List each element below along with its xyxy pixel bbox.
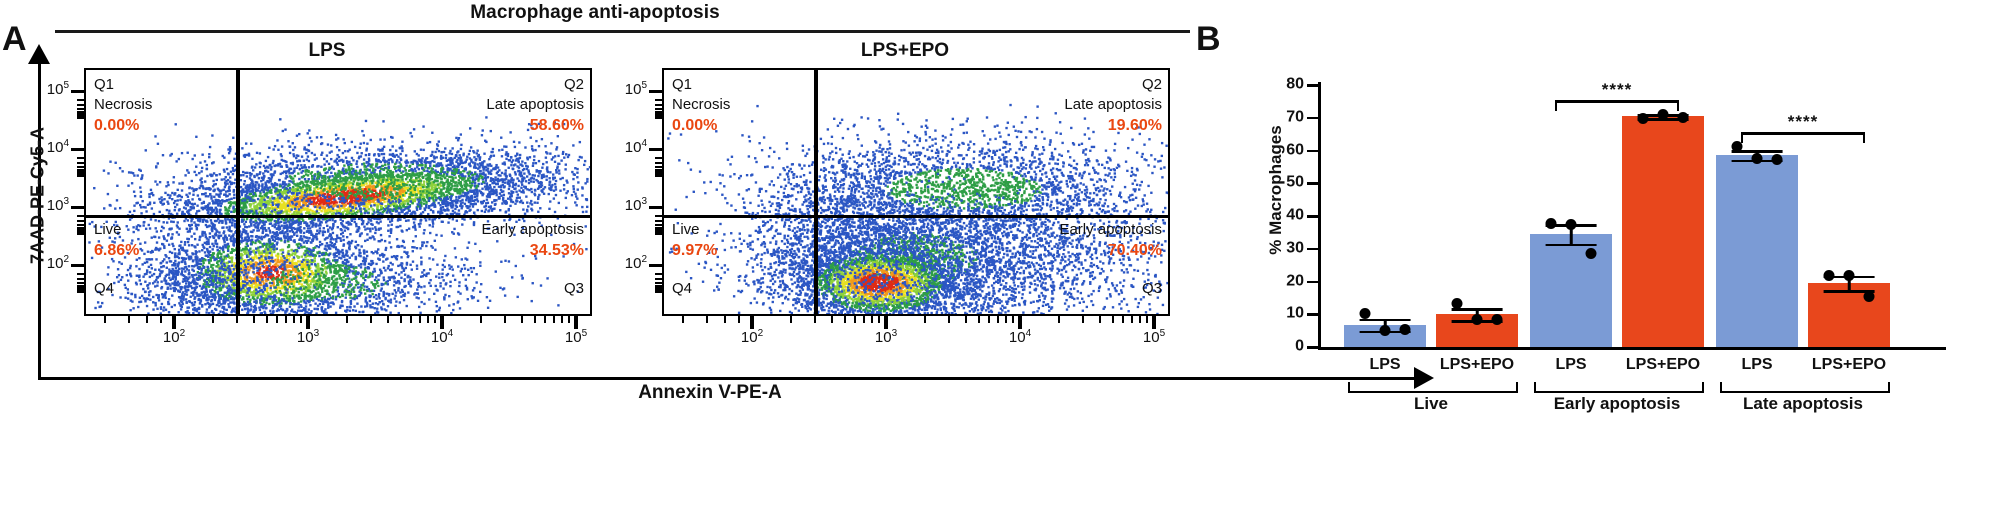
flow-y-minor-tick [77, 291, 84, 293]
flow-x-minor-tick [1112, 316, 1114, 323]
flow-x-minor-tick [568, 316, 570, 323]
flow-y-minor-tick [77, 166, 84, 168]
flow-x-minor-tick [534, 316, 536, 323]
flow-x-ticks: 102103104105 [662, 316, 1170, 332]
quadrant-q1-id: Q1 [672, 75, 730, 95]
flow-x-minor-tick [346, 316, 348, 323]
quadrant-q1-label: Q1 Necrosis 0.00% [672, 75, 730, 136]
flow-x-tick-label: 103 [875, 328, 897, 346]
quadrant-q4-name: Live [94, 220, 139, 240]
flow-plot-box: Q1 Necrosis 0.00% Q2 Late apoptosis 19.6… [662, 68, 1170, 316]
flow-x-minor-tick [544, 316, 546, 323]
flow-y-minor-tick [77, 233, 84, 235]
bar-chart-y-axis [1318, 82, 1321, 350]
flow-y-minor-tick [77, 224, 84, 226]
flow-x-minor-tick [1139, 316, 1141, 323]
flow-x-minor-tick [128, 316, 130, 323]
panel-a-x-axis-line [38, 377, 1418, 380]
flow-x-minor-tick [1122, 316, 1124, 323]
data-point [1824, 270, 1835, 281]
significance-bracket-left-tick [1741, 132, 1744, 143]
flow-x-minor-tick [738, 316, 740, 323]
flow-y-minor-tick [655, 108, 662, 110]
flow-x-minor-tick [427, 316, 429, 323]
flow-y-minor-tick [77, 104, 84, 106]
panel-a-x-axis-label: Annexin V-PE-A [300, 382, 1120, 404]
flow-x-minor-tick [706, 316, 708, 323]
flow-plot-box: Q1 Necrosis 0.00% Q2 Late apoptosis 58.6… [84, 68, 592, 316]
quadrant-q2-value: 58.60% [486, 115, 584, 136]
significance-bracket-line [1555, 100, 1680, 103]
flow-y-minor-tick [655, 282, 662, 284]
flow-x-minor-tick [276, 316, 278, 323]
bar-chart-y-tick [1307, 281, 1318, 284]
data-point [1492, 314, 1503, 325]
flow-x-minor-tick [146, 316, 148, 323]
flow-x-minor-tick [561, 316, 563, 323]
flow-x-ticks: 102103104105 [84, 316, 592, 332]
quadrant-q1-id: Q1 [94, 75, 152, 95]
significance-bracket-right-tick [1677, 100, 1680, 111]
flow-vertical-gate [814, 70, 818, 314]
flow-y-major-tick [649, 148, 662, 151]
flow-x-minor-tick [410, 316, 412, 323]
significance-bracket-line [1741, 132, 1866, 135]
flow-y-minor-tick [655, 220, 662, 222]
flow-y-minor-tick [77, 162, 84, 164]
flow-y-major-tick [71, 206, 84, 209]
flow-y-minor-tick [77, 215, 84, 217]
bar-chart-plot-area: 01020304050607080LPSLPS+EPOLPSLPS+EPOLPS… [1318, 82, 1938, 350]
quadrant-q2-value: 19.60% [1064, 115, 1162, 136]
flow-x-tick-label: 104 [1009, 328, 1031, 346]
flow-x-minor-tick [878, 316, 880, 323]
flow-y-minor-tick [77, 175, 84, 177]
bar-chart-y-axis-label: % Macrophages [1266, 90, 1286, 290]
flow-plot-lps: LPS 105104103102 Q1 Necrosis 0.00% Q2 La… [62, 68, 592, 358]
flow-x-tick-label: 103 [297, 328, 319, 346]
quadrant-q4-name: Live [672, 220, 717, 240]
bar-chart-y-tick [1307, 182, 1318, 185]
error-bar [1436, 82, 1518, 350]
flow-x-minor-tick [724, 316, 726, 323]
flow-y-tick-label: 104 [625, 138, 647, 156]
flow-x-minor-tick [400, 316, 402, 323]
flow-y-minor-tick [77, 220, 84, 222]
quadrant-q2-id: Q2 [486, 75, 584, 95]
panel-a-y-axis-arrow [28, 44, 50, 64]
bar-chart-y-tick [1307, 117, 1318, 120]
flow-x-tick-label: 104 [431, 328, 453, 346]
data-point [1638, 113, 1649, 124]
flow-y-major-tick [71, 90, 84, 93]
flow-y-minor-tick [655, 104, 662, 106]
bar-chart-y-tick [1307, 150, 1318, 153]
flow-vertical-gate [236, 70, 240, 314]
quadrant-q1-name: Necrosis [94, 95, 152, 115]
flow-y-minor-tick [77, 282, 84, 284]
quadrant-q3-name: Early apoptosis [1059, 220, 1162, 240]
significance-bracket-right-tick [1863, 132, 1866, 143]
flow-x-minor-tick [419, 316, 421, 323]
error-bar [1622, 82, 1704, 350]
bar-chart-y-tick-label: 0 [1295, 338, 1304, 356]
error-bar-cap-top [1452, 308, 1503, 311]
flow-x-minor-tick [682, 316, 684, 323]
flow-y-major-tick [71, 264, 84, 267]
flow-x-minor-tick [1082, 316, 1084, 323]
flow-x-tick-label: 102 [741, 328, 763, 346]
flow-y-minor-tick [655, 291, 662, 293]
flow-y-minor-tick [655, 162, 662, 164]
flow-x-minor-tick [924, 316, 926, 323]
flow-x-minor-tick [1058, 316, 1060, 323]
flow-x-minor-tick [997, 316, 999, 323]
quadrant-q1-name: Necrosis [672, 95, 730, 115]
flow-x-minor-tick [814, 316, 816, 323]
group-brace [1534, 382, 1704, 393]
quadrant-q2-name: Late apoptosis [1064, 95, 1162, 115]
bar-chart-y-tick-label: 40 [1286, 207, 1304, 225]
bar-chart-x-tick-label: LPS+EPO [1812, 356, 1886, 374]
flow-x-minor-tick [434, 316, 436, 323]
flow-x-minor-tick [504, 316, 506, 323]
flow-x-minor-tick [293, 316, 295, 323]
flow-x-minor-tick [266, 316, 268, 323]
quadrant-q3-name: Early apoptosis [481, 220, 584, 240]
panel-b-bar-chart: % Macrophages 01020304050607080LPSLPS+EP… [1236, 60, 1981, 480]
flow-x-minor-tick [1099, 316, 1101, 323]
bar-chart-y-tick [1307, 215, 1318, 218]
data-point [1844, 270, 1855, 281]
bar-chart-y-tick [1307, 313, 1318, 316]
flow-y-minor-tick [655, 215, 662, 217]
quadrant-q4-value: 9.97% [672, 240, 717, 261]
bar-chart-y-tick-label: 20 [1286, 272, 1304, 290]
title-rule [55, 30, 1190, 33]
flow-x-minor-tick [212, 316, 214, 323]
flow-x-minor-tick [1005, 316, 1007, 323]
data-point [1772, 154, 1783, 165]
quadrant-q1-value: 0.00% [672, 115, 730, 136]
flow-x-minor-tick [104, 316, 106, 323]
quadrant-q3-label: Early apoptosis 34.53% Q3 [481, 220, 584, 299]
flow-x-minor-tick [863, 316, 865, 323]
quadrant-q2-label: Q2 Late apoptosis 19.60% [1064, 75, 1162, 136]
flow-y-minor-tick [655, 175, 662, 177]
flow-x-minor-tick [387, 316, 389, 323]
data-point [1546, 218, 1557, 229]
group-label-early-apoptosis: Early apoptosis [1554, 394, 1681, 414]
quadrant-q4-label: Live 6.86% Q4 [94, 220, 139, 299]
bar-chart-x-tick-label: LPS [1741, 356, 1772, 374]
bar-chart-y-tick [1307, 84, 1318, 87]
flow-x-minor-tick [948, 316, 950, 323]
flow-horizontal-gate [664, 215, 1168, 218]
flow-y-tick-label: 102 [47, 254, 69, 272]
flow-x-minor-tick [844, 316, 846, 323]
quadrant-q3-id: Q3 [481, 279, 584, 299]
flow-x-tick-label: 105 [1143, 328, 1165, 346]
flow-y-minor-tick [655, 117, 662, 119]
flow-x-minor-tick [790, 316, 792, 323]
flow-x-minor-tick [1146, 316, 1148, 323]
flow-x-minor-tick [854, 316, 856, 323]
flow-x-minor-tick [285, 316, 287, 323]
significance-label: **** [1741, 112, 1866, 132]
quadrant-q3-id: Q3 [1059, 279, 1162, 299]
significance-label: **** [1555, 80, 1680, 100]
bar-chart-y-tick-label: 80 [1286, 76, 1304, 94]
flow-y-major-tick [649, 90, 662, 93]
error-bar-cap-top [1360, 319, 1411, 322]
data-point [1752, 153, 1763, 164]
data-point [1678, 112, 1689, 123]
quadrant-q4-id: Q4 [672, 279, 717, 299]
panel-b-label: B [1196, 22, 1221, 56]
quadrant-q2-label: Q2 Late apoptosis 58.60% [486, 75, 584, 136]
flow-y-minor-tick [77, 108, 84, 110]
bar-chart-y-tick-label: 60 [1286, 141, 1304, 159]
flow-y-minor-tick [655, 166, 662, 168]
flow-y-minor-tick [77, 117, 84, 119]
bar-chart-y-tick-label: 30 [1286, 239, 1304, 257]
flow-x-tick-label: 102 [163, 328, 185, 346]
flow-x-minor-tick [300, 316, 302, 323]
flow-y-minor-tick [77, 278, 84, 280]
flow-x-minor-tick [965, 316, 967, 323]
data-point [1586, 248, 1597, 259]
data-point [1864, 291, 1875, 302]
bar-chart-x-tick-label: LPS [1555, 356, 1586, 374]
flow-y-minor-tick [77, 157, 84, 159]
flow-x-minor-tick [521, 316, 523, 323]
flow-y-minor-tick [655, 99, 662, 101]
data-point [1472, 314, 1483, 325]
flow-x-minor-tick [871, 316, 873, 323]
error-bar [1344, 82, 1426, 350]
flow-y-ticks: 105104103102 [640, 68, 662, 316]
group-label-late-apoptosis: Late apoptosis [1743, 394, 1863, 414]
flow-x-minor-tick [236, 316, 238, 323]
flow-y-tick-label: 105 [625, 80, 647, 98]
flow-x-minor-tick [831, 316, 833, 323]
flow-plot-title: LPS [62, 40, 592, 62]
flow-x-minor-tick [253, 316, 255, 323]
figure-root: Macrophage anti-apoptosis A B 7AAD-PE-Cy… [0, 0, 1996, 510]
flow-y-major-tick [649, 206, 662, 209]
data-point [1658, 109, 1669, 120]
quadrant-q2-name: Late apoptosis [486, 95, 584, 115]
bar-chart-x-tick-label: LPS [1369, 356, 1400, 374]
flow-x-minor-tick [160, 316, 162, 323]
figure-title: Macrophage anti-apoptosis [0, 2, 1190, 24]
flow-y-minor-tick [655, 273, 662, 275]
significance-bracket-left-tick [1555, 100, 1558, 111]
quadrant-q3-value: 34.53% [481, 240, 584, 261]
flow-plot-lps-epo: LPS+EPO 105104103102 Q1 Necrosis 0.00% Q… [640, 68, 1170, 358]
flow-y-tick-label: 104 [47, 138, 69, 156]
data-point [1380, 325, 1391, 336]
data-point [1400, 324, 1411, 335]
flow-y-ticks: 105104103102 [62, 68, 84, 316]
quadrant-q4-id: Q4 [94, 279, 139, 299]
flow-x-minor-tick [1012, 316, 1014, 323]
flow-y-major-tick [71, 148, 84, 151]
bar-chart-y-tick [1307, 346, 1318, 349]
error-bar [1530, 82, 1612, 350]
flow-y-minor-tick [655, 233, 662, 235]
data-point [1452, 298, 1463, 309]
flow-plot-title: LPS+EPO [640, 40, 1170, 62]
flow-y-tick-label: 105 [47, 80, 69, 98]
flow-y-minor-tick [655, 157, 662, 159]
flow-y-minor-tick [77, 99, 84, 101]
bar-chart-y-tick [1307, 248, 1318, 251]
data-point [1360, 308, 1371, 319]
quadrant-q2-id: Q2 [1064, 75, 1162, 95]
flow-y-minor-tick [77, 273, 84, 275]
quadrant-q1-label: Q1 Necrosis 0.00% [94, 75, 152, 136]
quadrant-q4-label: Live 9.97% Q4 [672, 220, 717, 299]
panel-a-y-axis-label: 7AAD-PE-Cy5-A [28, 106, 49, 286]
flow-x-minor-tick [370, 316, 372, 323]
flow-x-minor-tick [1131, 316, 1133, 323]
bar-chart-x-tick-label: LPS+EPO [1626, 356, 1700, 374]
flow-x-minor-tick [988, 316, 990, 323]
quadrant-q3-value: 70.40% [1059, 240, 1162, 261]
group-brace [1348, 382, 1518, 393]
flow-x-minor-tick [480, 316, 482, 323]
flow-x-minor-tick [978, 316, 980, 323]
flow-x-minor-tick [553, 316, 555, 323]
flow-y-tick-label: 102 [625, 254, 647, 272]
flow-y-tick-label: 103 [625, 196, 647, 214]
quadrant-q4-value: 6.86% [94, 240, 139, 261]
data-point [1566, 219, 1577, 230]
quadrant-q3-label: Early apoptosis 70.40% Q3 [1059, 220, 1162, 299]
group-label-live: Live [1414, 394, 1448, 414]
flow-x-tick-label: 105 [565, 328, 587, 346]
bar-chart-x-tick-label: LPS+EPO [1440, 356, 1514, 374]
group-brace [1720, 382, 1890, 393]
error-bar-cap-bottom [1546, 244, 1597, 247]
flow-y-minor-tick [655, 278, 662, 280]
panel-a-label: A [2, 22, 27, 56]
bar-chart-y-tick-label: 70 [1286, 108, 1304, 126]
flow-y-minor-tick [655, 224, 662, 226]
flow-y-major-tick [649, 264, 662, 267]
flow-y-tick-label: 103 [47, 196, 69, 214]
quadrant-q1-value: 0.00% [94, 115, 152, 136]
bar-chart-y-tick-label: 10 [1286, 305, 1304, 323]
bar-chart-y-tick-label: 50 [1286, 174, 1304, 192]
flow-horizontal-gate [86, 215, 590, 218]
